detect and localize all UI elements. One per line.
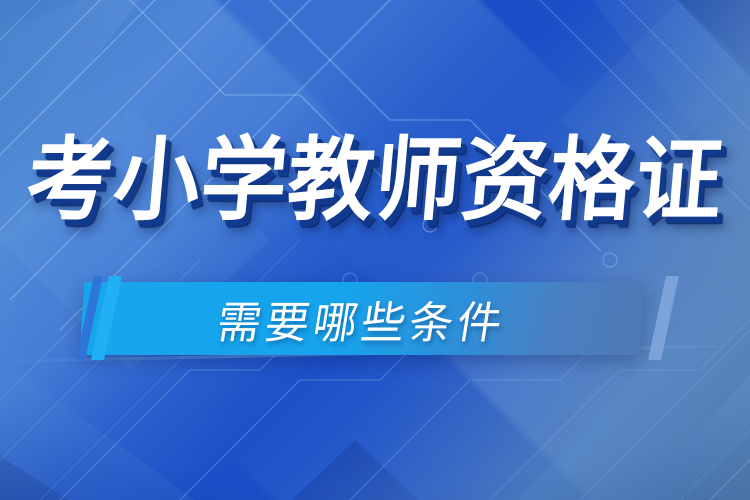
circuit-trace-pattern — [0, 0, 750, 500]
poster-title: 考小学教师资格证 — [23, 135, 727, 226]
title-area: 考小学教师资格证 — [0, 138, 750, 224]
poster-banner: 考小学教师资格证 需要哪些条件 — [0, 0, 750, 500]
subtitle-banner: 需要哪些条件 — [79, 282, 644, 355]
poster-subtitle: 需要哪些条件 — [213, 287, 511, 351]
